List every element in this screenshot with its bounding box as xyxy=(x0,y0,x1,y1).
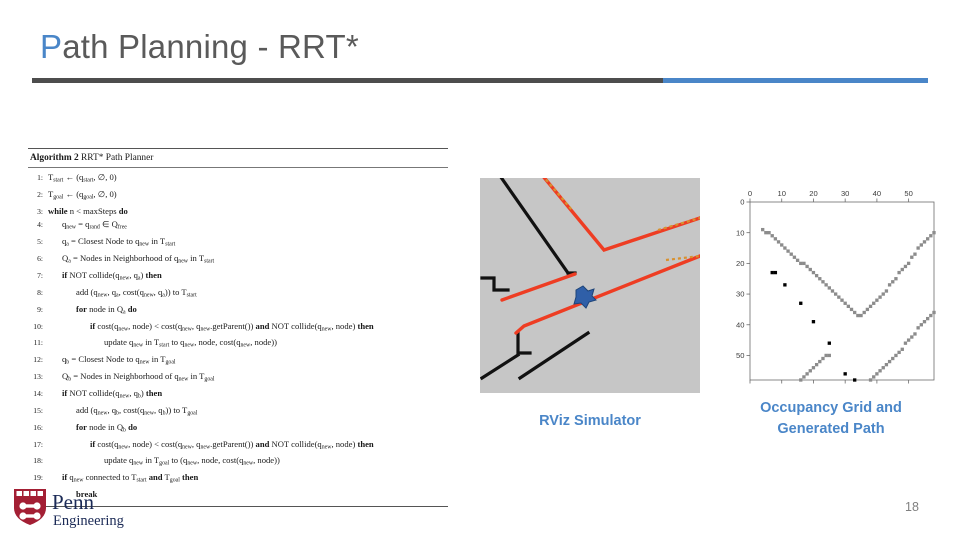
data-point xyxy=(904,342,907,345)
title-divider-dark xyxy=(32,78,663,83)
data-point xyxy=(926,237,929,240)
data-point xyxy=(882,366,885,369)
data-point xyxy=(805,372,808,375)
data-point xyxy=(780,243,783,246)
data-point xyxy=(885,363,888,366)
data-point xyxy=(888,283,891,286)
algorithm-line-number: 4: xyxy=(28,218,48,235)
data-point xyxy=(901,268,904,271)
data-point xyxy=(872,375,875,378)
page-number: 18 xyxy=(905,500,919,514)
algorithm-line: 12:qb = Closest Node to qnew in Tgoal xyxy=(28,353,448,370)
occupancy-grid-plot: 0102030405001020304050 xyxy=(728,180,938,392)
data-point xyxy=(859,314,862,317)
algorithm-line-number: 13: xyxy=(28,370,48,387)
algorithm-line-number: 16: xyxy=(28,421,48,438)
data-point xyxy=(812,320,815,323)
data-point xyxy=(897,351,900,354)
data-point xyxy=(869,378,872,381)
algorithm-line-number: 3: xyxy=(28,205,48,218)
data-point xyxy=(932,231,935,234)
algorithm-line-text: update qnew in Tstart to qnew, node, cos… xyxy=(48,336,448,353)
data-point xyxy=(878,369,881,372)
data-point xyxy=(882,292,885,295)
data-point xyxy=(872,302,875,305)
algorithm-line-number: 1: xyxy=(28,171,48,188)
data-point xyxy=(910,256,913,259)
algorithm-line-text: for node in Qb do xyxy=(48,421,448,438)
y-tick-label: 20 xyxy=(736,259,744,268)
data-point xyxy=(878,295,881,298)
plot-frame xyxy=(750,202,934,380)
data-point xyxy=(828,354,831,357)
algorithm-line: 10:if cost(qnew, node) < cost(qnew, qnew… xyxy=(28,320,448,337)
x-tick-label: 30 xyxy=(841,189,849,198)
algorithm-heading-rest: RRT* Path Planner xyxy=(79,153,154,163)
data-point xyxy=(885,289,888,292)
data-point xyxy=(799,262,802,265)
algorithm-line-text: qb = Closest Node to qnew in Tgoal xyxy=(48,353,448,370)
algorithm-line: 18:update qnew in Tgoal to (qnew, node, … xyxy=(28,454,448,471)
logo-artwork: Penn Engineering xyxy=(12,486,142,530)
algorithm-line-number: 12: xyxy=(28,353,48,370)
algorithm-line: 15:add (qnew, qb, cost(qnew, qb)) to Tgo… xyxy=(28,404,448,421)
data-point xyxy=(786,249,789,252)
algorithm-line-number: 2: xyxy=(28,188,48,205)
y-tick-label: 50 xyxy=(736,351,744,360)
algorithm-heading-bold: Algorithm 2 xyxy=(30,153,79,163)
algorithm-heading: Algorithm 2 RRT* Path Planner xyxy=(28,149,448,167)
penn-engineering-logo: Penn Engineering xyxy=(12,486,142,530)
data-point xyxy=(815,363,818,366)
x-tick-label: 40 xyxy=(873,189,881,198)
rviz-background xyxy=(480,178,700,393)
algorithm-line: 9:for node in Qa do xyxy=(28,303,448,320)
data-point xyxy=(783,283,786,286)
data-point xyxy=(812,366,815,369)
algorithm-line-text: while n < maxSteps do xyxy=(48,205,448,218)
data-point xyxy=(891,357,894,360)
x-tick-label: 50 xyxy=(904,189,912,198)
algorithm-line: 4:qnew = qrand ∈ Qfree xyxy=(28,218,448,235)
data-point xyxy=(783,246,786,249)
data-point xyxy=(856,314,859,317)
algorithm-line-text: for node in Qa do xyxy=(48,303,448,320)
algorithm-line-text: Qa = Nodes in Neighborhood of qnew in Ts… xyxy=(48,252,448,269)
algorithm-line: 13:Qb = Nodes in Neighborhood of qnew in… xyxy=(28,370,448,387)
occupancy-caption-line1: Occupancy Grid and xyxy=(716,398,946,419)
data-point xyxy=(824,283,827,286)
data-point xyxy=(844,302,847,305)
data-point xyxy=(767,231,770,234)
data-point xyxy=(818,277,821,280)
data-point xyxy=(916,246,919,249)
data-point xyxy=(875,372,878,375)
occupancy-caption-line2: Generated Path xyxy=(716,419,946,440)
data-point xyxy=(793,256,796,259)
occupancy-grid-figure: 0102030405001020304050 xyxy=(728,180,938,392)
algorithm-line-number: 17: xyxy=(28,438,48,455)
data-point xyxy=(761,228,764,231)
data-point xyxy=(802,375,805,378)
data-point xyxy=(837,295,840,298)
data-point xyxy=(796,259,799,262)
data-point xyxy=(913,253,916,256)
data-point xyxy=(834,292,837,295)
algorithm-line-text: if NOT collide(qnew, qa) then xyxy=(48,269,448,286)
rviz-image xyxy=(480,178,700,393)
data-point xyxy=(809,268,812,271)
data-point xyxy=(923,240,926,243)
data-point xyxy=(920,323,923,326)
data-point xyxy=(929,234,932,237)
data-point xyxy=(771,271,774,274)
data-point xyxy=(853,311,856,314)
data-point xyxy=(812,271,815,274)
algorithm-line-number: 14: xyxy=(28,387,48,404)
algorithm-line-number: 6: xyxy=(28,252,48,269)
data-point xyxy=(926,317,929,320)
data-point xyxy=(815,274,818,277)
algorithm-line-number: 7: xyxy=(28,269,48,286)
algorithm-line: 2:Tgoal ← (qgoal, ∅, 0) xyxy=(28,188,448,205)
data-point xyxy=(894,354,897,357)
title-divider xyxy=(32,78,928,83)
data-point xyxy=(805,265,808,268)
algorithm-line: 1:Tstart ← (qstart, ∅, 0) xyxy=(28,171,448,188)
algorithm-line-text: if cost(qnew, node) < cost(qnew, qnew.ge… xyxy=(48,320,448,337)
data-point xyxy=(818,360,821,363)
algorithm-line: 14:if NOT collide(qnew, qb) then xyxy=(28,387,448,404)
title-rest: ath Planning - RRT* xyxy=(62,28,359,65)
algorithm-line-number: 9: xyxy=(28,303,48,320)
penn-shield-icon xyxy=(14,489,46,525)
data-point xyxy=(853,378,856,381)
algorithm-line-text: add (qnew, qb, cost(qnew, qb)) to Tgoal xyxy=(48,404,448,421)
data-point xyxy=(932,311,935,314)
y-tick-label: 10 xyxy=(736,228,744,237)
data-point xyxy=(824,354,827,357)
data-point xyxy=(799,378,802,381)
algorithm-line: 5:qa = Closest Node to qnew in Tstart xyxy=(28,235,448,252)
occupancy-grid-caption: Occupancy Grid and Generated Path xyxy=(716,398,946,440)
logo-engineering-text: Engineering xyxy=(53,513,124,529)
data-point xyxy=(844,372,847,375)
algorithm-line-number: 10: xyxy=(28,320,48,337)
data-point xyxy=(771,234,774,237)
data-point xyxy=(774,271,777,274)
algorithm-line-text: if cost(qnew, node) < cost(qnew, qnew.ge… xyxy=(48,438,448,455)
algorithm-lines: 1:Tstart ← (qstart, ∅, 0)2:Tgoal ← (qgoa… xyxy=(28,168,448,505)
data-point xyxy=(916,326,919,329)
data-point xyxy=(923,320,926,323)
data-point xyxy=(894,277,897,280)
data-point xyxy=(828,286,831,289)
data-point xyxy=(802,262,805,265)
algorithm-box: Algorithm 2 RRT* Path Planner 1:Tstart ←… xyxy=(28,148,448,507)
data-point xyxy=(790,253,793,256)
algorithm-line-number: 8: xyxy=(28,286,48,303)
page-title: Path Planning - RRT* xyxy=(40,28,359,66)
title-divider-blue xyxy=(663,78,928,83)
algorithm-line: 8:add (qnew, qa, cost(qnew, qa)) to Tsta… xyxy=(28,286,448,303)
data-point xyxy=(840,299,843,302)
data-point xyxy=(897,271,900,274)
data-point xyxy=(831,289,834,292)
algorithm-line: 16:for node in Qb do xyxy=(28,421,448,438)
data-point xyxy=(863,311,866,314)
x-tick-label: 0 xyxy=(748,189,752,198)
algorithm-line: 6:Qa = Nodes in Neighborhood of qnew in … xyxy=(28,252,448,269)
data-point xyxy=(850,308,853,311)
algorithm-line: 17:if cost(qnew, node) < cost(qnew, qnew… xyxy=(28,438,448,455)
data-point xyxy=(875,299,878,302)
data-point xyxy=(891,280,894,283)
algorithm-line-text: update qnew in Tgoal to (qnew, node, cos… xyxy=(48,454,448,471)
algorithm-line-text: Qb = Nodes in Neighborhood of qnew in Tg… xyxy=(48,370,448,387)
data-point xyxy=(907,262,910,265)
algorithm-line-text: add (qnew, qa, cost(qnew, qa)) to Tstart xyxy=(48,286,448,303)
algorithm-line-number: 15: xyxy=(28,404,48,421)
rviz-figure xyxy=(480,178,700,393)
y-tick-label: 0 xyxy=(740,198,744,207)
rviz-scene xyxy=(480,178,700,393)
algorithm-line-number: 5: xyxy=(28,235,48,252)
algorithm-line-number: 11: xyxy=(28,336,48,353)
data-point xyxy=(828,342,831,345)
logo-penn-text: Penn xyxy=(52,490,95,514)
algorithm-line-number: 18: xyxy=(28,454,48,471)
algorithm-line-text: qnew = qrand ∈ Qfree xyxy=(48,218,448,235)
y-tick-label: 30 xyxy=(736,290,744,299)
data-point xyxy=(866,308,869,311)
data-point xyxy=(888,360,891,363)
data-point xyxy=(799,302,802,305)
algorithm-line: 3:while n < maxSteps do xyxy=(28,205,448,218)
slide: Path Planning - RRT* Algorithm 2 RRT* Pa… xyxy=(0,0,960,540)
data-point xyxy=(904,265,907,268)
data-point xyxy=(907,338,910,341)
algorithm-line-text: Tstart ← (qstart, ∅, 0) xyxy=(48,171,448,188)
data-point xyxy=(777,240,780,243)
data-point xyxy=(847,305,850,308)
data-point xyxy=(920,243,923,246)
rviz-caption: RViz Simulator xyxy=(480,411,700,432)
algorithm-line-text: qa = Closest Node to qnew in Tstart xyxy=(48,235,448,252)
title-accent-letter: P xyxy=(40,28,62,65)
data-point xyxy=(910,335,913,338)
x-tick-label: 20 xyxy=(809,189,817,198)
algorithm-line-text: Tgoal ← (qgoal, ∅, 0) xyxy=(48,188,448,205)
x-tick-label: 10 xyxy=(777,189,785,198)
data-point xyxy=(821,280,824,283)
data-point xyxy=(901,348,904,351)
algorithm-line-text: if NOT collide(qnew, qb) then xyxy=(48,387,448,404)
algorithm-line: 11:update qnew in Tstart to qnew, node, … xyxy=(28,336,448,353)
algorithm-line: 7:if NOT collide(qnew, qa) then xyxy=(28,269,448,286)
data-point xyxy=(809,369,812,372)
data-point xyxy=(764,231,767,234)
data-point xyxy=(929,314,932,317)
data-point xyxy=(821,357,824,360)
data-point xyxy=(774,237,777,240)
data-point xyxy=(913,332,916,335)
y-tick-label: 40 xyxy=(736,320,744,329)
data-point xyxy=(869,305,872,308)
